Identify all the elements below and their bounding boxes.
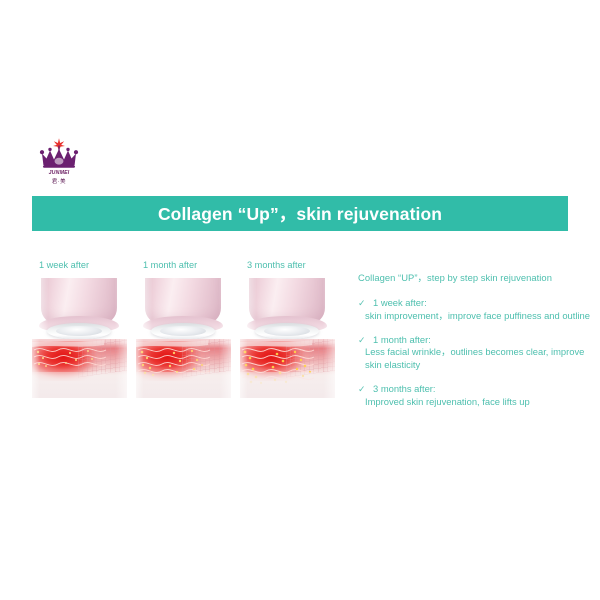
skin-layer-diagram-icon — [240, 278, 335, 398]
benefit-body: skin improvement，improve face puffiness … — [365, 310, 590, 322]
comparison-card-label: 1 month after — [143, 259, 231, 271]
skin-layer-diagram-icon — [136, 278, 231, 398]
title-banner: Collagen “Up”，skin rejuvenation — [32, 196, 568, 231]
description-panel: Collagen “UP”，step by step skin rejuvena… — [358, 272, 590, 420]
benefit-item: ✓ 3 months after: Improved skin rejuvena… — [358, 383, 590, 408]
page-title: Collagen “Up”，skin rejuvenation — [158, 201, 442, 226]
comparison-card: 3 months after — [240, 259, 335, 398]
crown-logo-icon — [36, 137, 82, 171]
logo-wordmark: JUNMEI — [28, 170, 90, 176]
skin-cross-section — [136, 339, 231, 398]
benefit-term: 1 month after: — [373, 334, 590, 346]
skin-cross-section — [32, 339, 127, 398]
skin-cross-section — [240, 339, 335, 398]
benefit-body: Less facial wrinkle，outlines becomes cle… — [365, 346, 590, 371]
benefit-item: ✓ 1 week after: skin improvement，improve… — [358, 297, 590, 322]
benefit-term: 1 week after: — [373, 297, 590, 309]
check-icon: ✓ — [358, 383, 366, 395]
comparison-card: 1 month after — [136, 259, 231, 398]
device-head-illustration — [35, 278, 123, 340]
comparison-card-label: 1 week after — [39, 259, 127, 271]
check-icon: ✓ — [358, 297, 366, 309]
check-icon: ✓ — [358, 334, 366, 346]
comparison-gallery: 1 week after — [32, 259, 344, 409]
device-head-illustration — [139, 278, 227, 340]
device-head-illustration — [243, 278, 331, 340]
benefit-term: 3 months after: — [373, 383, 590, 395]
comparison-card-label: 3 months after — [247, 259, 335, 271]
description-heading: Collagen “UP”，step by step skin rejuvena… — [358, 272, 590, 284]
brand-logo: JUNMEI 君·美 — [28, 137, 90, 185]
logo-subtext: 君·美 — [28, 177, 90, 185]
benefit-body: Improved skin rejuvenation, face lifts u… — [365, 396, 590, 408]
benefit-item: ✓ 1 month after: Less facial wrinkle，out… — [358, 334, 590, 371]
product-info-slide: JUNMEI 君·美 Collagen “Up”，skin rejuvenati… — [0, 0, 600, 600]
skin-layer-diagram-icon — [32, 278, 127, 398]
comparison-card: 1 week after — [32, 259, 127, 398]
